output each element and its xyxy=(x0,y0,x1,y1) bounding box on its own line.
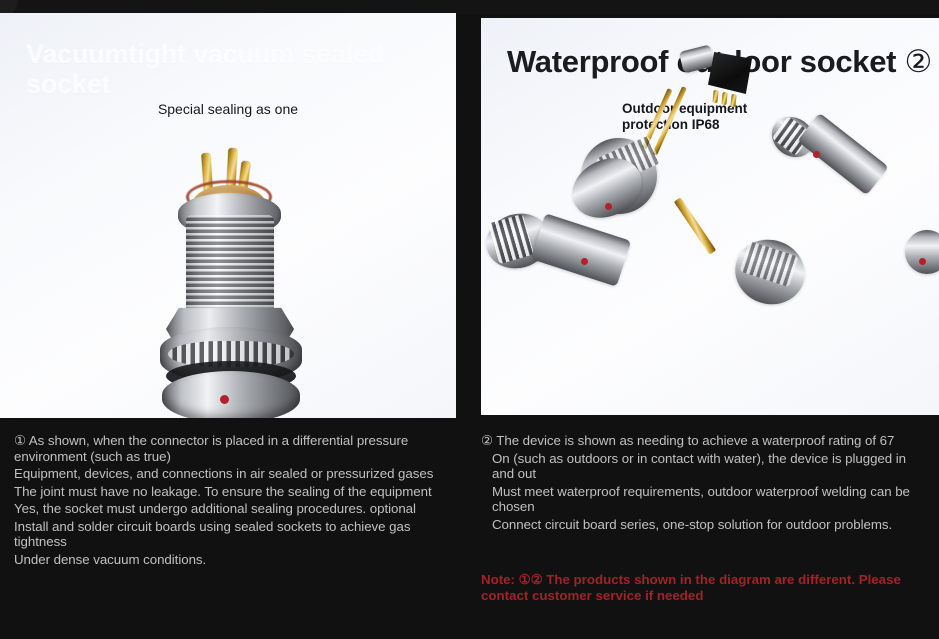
gold-pin-icon xyxy=(721,92,727,105)
left-panel-caption: Special sealing as one xyxy=(0,101,456,117)
right-description-text: ② The device is shown as needing to achi… xyxy=(481,433,931,534)
red-alignment-dot xyxy=(605,203,612,210)
gold-pin-icon xyxy=(712,90,718,103)
right-paragraph: ② The device is shown as needing to achi… xyxy=(481,433,931,449)
base-flange xyxy=(162,371,300,418)
red-alignment-dot xyxy=(813,151,820,158)
black-plastic-block xyxy=(708,52,752,94)
vacuum-sealed-connector-image xyxy=(156,145,306,418)
left-panel-watermark: Vacuumtight vacuum sealed socket xyxy=(26,39,436,99)
threaded-barrel xyxy=(186,215,274,323)
product-info-page: Vacuumtight vacuum sealed socket Special… xyxy=(0,0,939,639)
left-paragraph: Under dense vacuum conditions. xyxy=(14,552,466,568)
left-paragraph: Yes, the socket must undergo additional … xyxy=(14,501,466,517)
red-alignment-dot xyxy=(581,258,588,265)
red-alignment-dot xyxy=(919,258,926,265)
top-black-band xyxy=(0,0,939,14)
right-product-panel: Waterproof outdoor socket ② Outdoor equi… xyxy=(481,18,939,415)
plug-barrel xyxy=(797,113,889,196)
gold-lead-icon xyxy=(674,197,716,255)
waterproof-connector-set-image xyxy=(481,18,939,415)
right-paragraph: Connect circuit board series, one-stop s… xyxy=(481,517,931,533)
customer-service-note: Note: ①② The products shown in the diagr… xyxy=(481,572,931,604)
left-description-text: ① As shown, when the connector is placed… xyxy=(14,433,466,569)
left-product-panel: Vacuumtight vacuum sealed socket Special… xyxy=(0,13,456,418)
red-alignment-dot xyxy=(220,395,229,404)
left-paragraph: Equipment, devices, and connections in a… xyxy=(14,466,466,482)
left-paragraph: Install and solder circuit boards using … xyxy=(14,519,466,550)
right-paragraph: Must meet waterproof requirements, outdo… xyxy=(481,484,931,515)
plug-barrel xyxy=(531,213,631,286)
left-paragraph: The joint must have no leakage. To ensur… xyxy=(14,484,466,500)
connector-barrel xyxy=(679,44,715,73)
left-paragraph: ① As shown, when the connector is placed… xyxy=(14,433,466,464)
connector-ring xyxy=(905,230,939,274)
gold-pin-icon xyxy=(730,94,736,107)
right-paragraph: On (such as outdoors or in contact with … xyxy=(481,451,931,482)
